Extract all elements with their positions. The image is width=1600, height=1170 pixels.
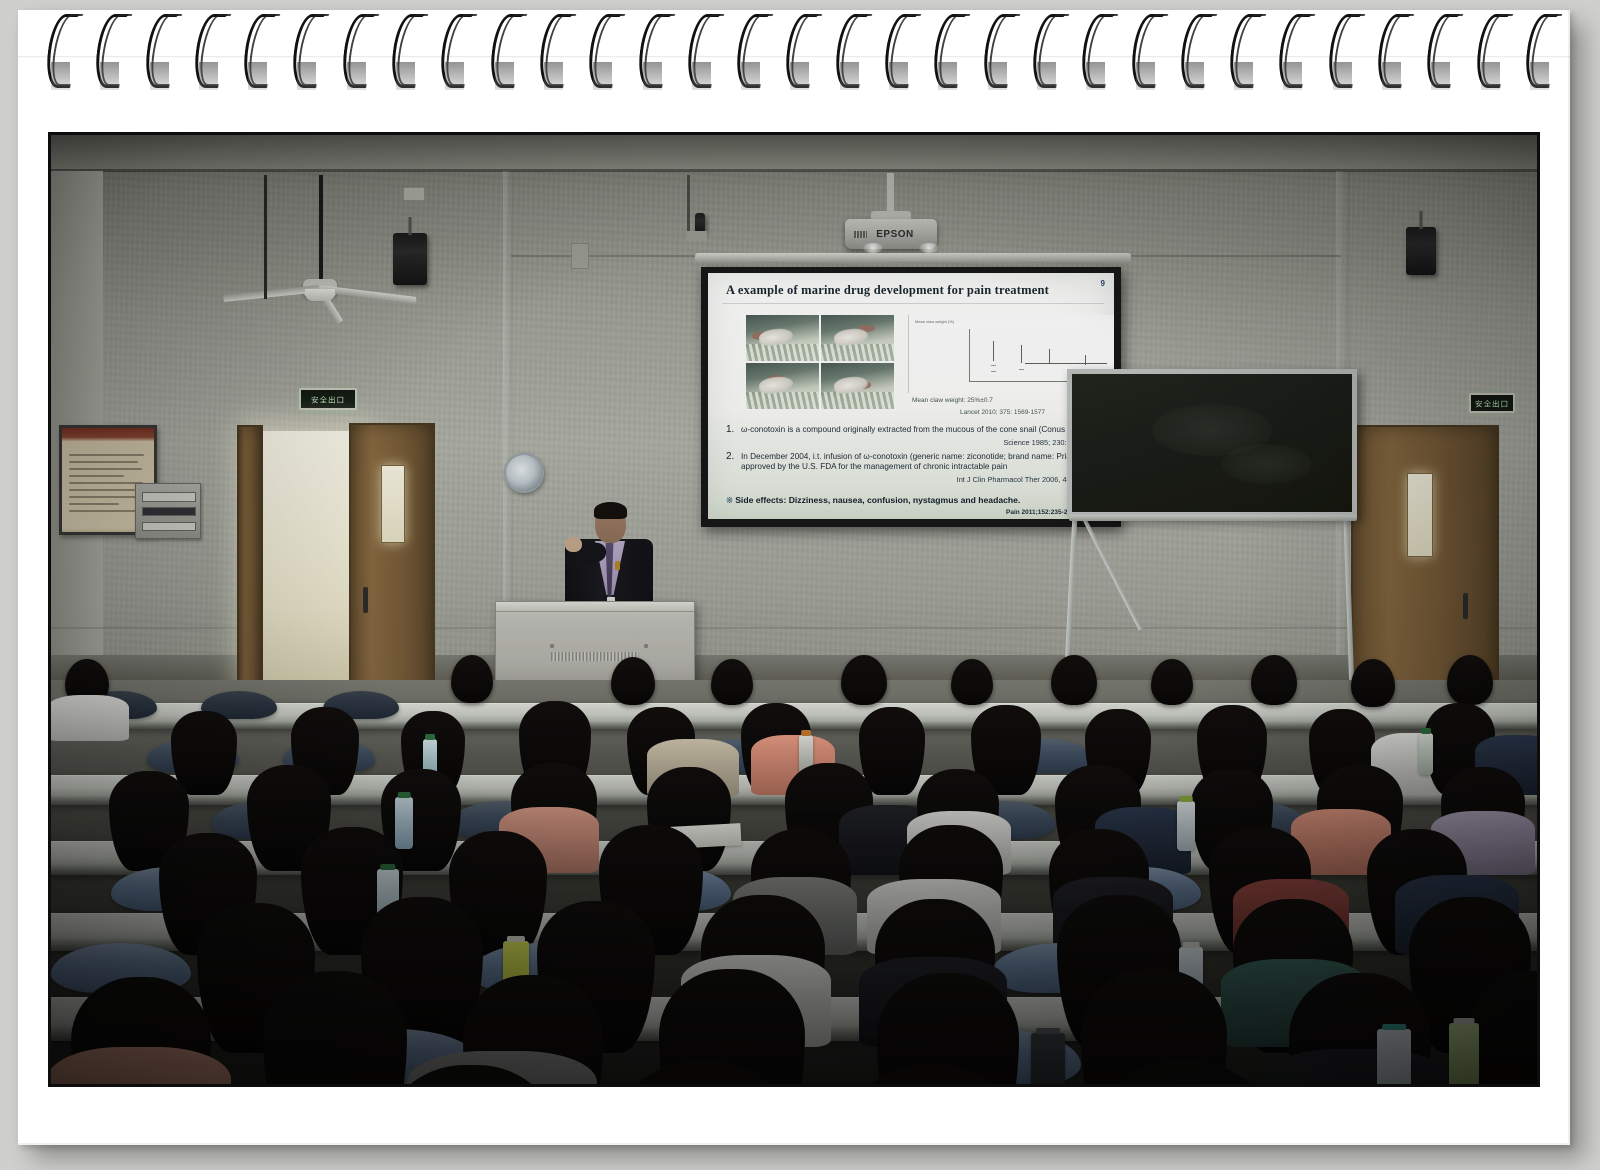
audience-head: [1351, 659, 1395, 707]
ceiling: [51, 135, 1537, 171]
bedding-texture: [746, 344, 819, 361]
door-center-window: [381, 465, 405, 543]
bedding-texture: [746, 392, 819, 409]
bottle-cap: [1382, 1024, 1406, 1030]
lectern-screw-right: [644, 644, 648, 648]
bottle-cap: [801, 730, 811, 736]
audience-head: [711, 659, 753, 705]
projector-lens-glow-2: [919, 243, 939, 253]
audience-head: [611, 657, 655, 705]
mouse-body-marker: [855, 381, 871, 388]
wall-speaker-center: [695, 213, 705, 233]
bottle-cap: [380, 864, 395, 870]
audience-long-hair: [263, 971, 407, 1084]
slide-bullet-2-text: In December 2004, i.t. infusion of ω-con…: [741, 452, 1095, 472]
open-doorway-light: [247, 431, 365, 695]
slide-title-rule: [722, 303, 1104, 304]
door-center-handle[interactable]: [363, 587, 368, 613]
chalkboard-tray: [1069, 515, 1357, 521]
lecturer-hand: [565, 537, 582, 552]
mouse-body-marker: [752, 332, 768, 339]
audience-long-hair: [859, 707, 925, 795]
slide-bullet-2: 2. In December 2004, i.t. infusion of ω-…: [726, 452, 1108, 473]
mouse-photo-1: [746, 315, 819, 361]
wall-mounted-fan: [504, 453, 544, 493]
speaker-bracket-right: [1420, 211, 1423, 229]
wall-bracket-a: [687, 231, 707, 241]
audience-body: [51, 695, 129, 741]
slide-side-effects-reference: Pain 2011;152:235-237.: [1006, 509, 1076, 516]
projector-brand-label: EPSON: [876, 229, 914, 240]
notice-line: [69, 496, 140, 498]
speaker-bracket: [409, 217, 412, 235]
projector-lens-glow: [863, 243, 883, 253]
bedding-texture: [821, 392, 894, 409]
control-panel-slot-1: [142, 492, 196, 502]
lecturer-lapel-badge: [615, 561, 620, 570]
chart-y-axis-label: Mean claw weight (%): [915, 319, 954, 324]
slide-bullet-1-text: ω-conotoxin is a compound originally ext…: [741, 425, 1095, 434]
slide-chart-caption: Mean claw weight: 25%±0.7: [912, 397, 993, 404]
ceiling-edge-line: [51, 169, 1537, 172]
side-effects-text: Side effects: Dizziness, nausea, confusi…: [735, 495, 1020, 505]
slide-side-effects: ※Side effects: Dizziness, nausea, confus…: [726, 495, 1020, 506]
projection-screen: A example of marine drug development for…: [701, 267, 1121, 527]
bottle-cap: [1183, 942, 1200, 948]
bottle-cap: [1180, 796, 1193, 802]
water-bottle[interactable]: [1449, 1023, 1479, 1084]
notice-line: [69, 475, 124, 477]
mouse-photo-4: [821, 363, 894, 409]
lecture-hall-photo: 安全出口 安全出口: [51, 135, 1537, 1084]
door-center[interactable]: [349, 423, 435, 703]
notice-line: [69, 503, 119, 505]
water-bottle[interactable]: [395, 797, 413, 849]
slide-mouse-photo-grid: [746, 315, 894, 409]
thermos-flask[interactable]: [1031, 1033, 1065, 1084]
ceiling-fan-rod: [319, 175, 323, 283]
audience-long-hair: [171, 711, 237, 795]
control-panel-slot-2: [142, 522, 196, 531]
chart-errorbar-1: [993, 341, 994, 361]
exit-sign-right-text: 安全出口: [1475, 397, 1509, 408]
audience-head: [1051, 655, 1097, 705]
exit-sign-left: 安全出口: [299, 388, 357, 410]
mouse-body-marker: [859, 325, 875, 332]
chart-errorbar-2: [1021, 345, 1022, 363]
chalk-smudge-2: [1222, 444, 1312, 484]
water-bottle[interactable]: [1377, 1029, 1411, 1084]
audience-head: [451, 655, 493, 703]
exit-sign-left-text: 安全出口: [311, 393, 345, 404]
chart-trend-line: [1025, 363, 1107, 364]
wall-outlet-box: [403, 187, 425, 201]
conduit-right: [687, 175, 690, 235]
photograph-frame: 安全出口 安全出口: [48, 132, 1540, 1087]
paper-top-crease: [18, 56, 1570, 58]
audience-head: [1151, 659, 1193, 705]
audience-head: [1251, 655, 1297, 705]
wall-speaker-left: [393, 233, 427, 285]
water-bottle[interactable]: [1419, 733, 1433, 775]
bottle-cap: [398, 792, 411, 798]
door-right-handle[interactable]: [1463, 593, 1468, 619]
slide-bullet-1: 1. ω-conotoxin is a compound originally …: [726, 425, 1108, 436]
projector-pole: [887, 173, 894, 215]
lectern-screw-left: [550, 644, 554, 648]
water-bottle[interactable]: [1177, 801, 1195, 851]
wall-control-panel[interactable]: [135, 483, 201, 539]
bottle-cap: [425, 734, 435, 740]
chart-y-axis: [969, 329, 970, 381]
slide-bullets: 1. ω-conotoxin is a compound originally …: [726, 425, 1108, 489]
chart-tick-1: [991, 365, 996, 366]
lecturer-hair: [594, 502, 627, 519]
notice-line: [69, 510, 138, 512]
chart-tick-2: [991, 371, 996, 372]
exit-sign-right: 安全出口: [1469, 393, 1515, 413]
projector-vent: [854, 231, 867, 238]
mobile-chalkboard: [1067, 369, 1357, 517]
conduit-left: [264, 175, 267, 299]
bottle-cap: [507, 936, 525, 942]
notice-line: [69, 461, 138, 463]
notice-line: [69, 489, 135, 491]
notebook-page-root: 安全出口 安全出口: [0, 0, 1600, 1170]
notice-line: [69, 482, 143, 484]
slide-bullet-2-reference: Int J Clin Pharmacol Ther 2006, 44, 478-…: [726, 475, 1104, 484]
door-left[interactable]: [237, 425, 263, 701]
audience-head: [1447, 655, 1493, 705]
ceiling-fan-light: [305, 289, 335, 301]
chart-errorbar-3: [1049, 349, 1050, 363]
screen-roller-bar: [695, 253, 1131, 262]
wall-plate-b: [571, 243, 589, 269]
audience-head: [951, 659, 993, 705]
bottle-cap: [1421, 728, 1431, 734]
flask-cap: [1036, 1028, 1060, 1034]
presentation-slide: A example of marine drug development for…: [708, 273, 1114, 519]
control-panel-display: [142, 507, 196, 516]
slide-number: 9: [1101, 279, 1105, 288]
door-right-window: [1407, 473, 1433, 557]
notice-line: [69, 468, 142, 470]
mouse-body-marker: [768, 375, 784, 382]
slide-title: A example of marine drug development for…: [726, 283, 1049, 298]
slide-bullet-1-reference: Science 1985; 230: 1338-1343: [726, 438, 1104, 447]
slide-bullet-2-number: 2.: [726, 452, 734, 463]
bedding-texture: [821, 344, 894, 361]
mouse-photo-2: [821, 315, 894, 361]
mouse-photo-3: [746, 363, 819, 409]
notice-line: [69, 454, 144, 456]
lectern-top: [496, 602, 694, 612]
slide-bullet-1-number: 1.: [726, 425, 734, 436]
side-effects-marker: ※: [726, 495, 733, 505]
audience-head: [841, 655, 887, 705]
slide-chart-reference: Lancet 2010; 375: 1569-1577: [960, 409, 1045, 416]
bottle-cap: [1454, 1018, 1475, 1024]
chart-tick-3: [1019, 369, 1024, 370]
wall-speaker-right: [1406, 227, 1436, 275]
